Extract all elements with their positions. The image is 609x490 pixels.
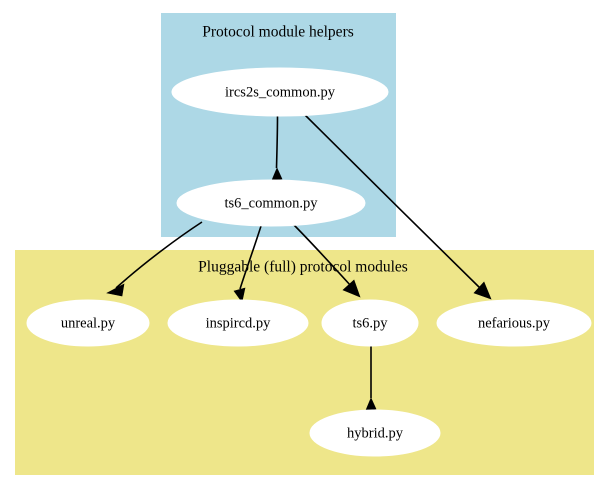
cluster-label-pluggable: Pluggable (full) protocol modules bbox=[198, 259, 408, 276]
graph-canvas: ircs2s_common.pyts6_common.pyunreal.pyin… bbox=[0, 0, 609, 490]
node-ts6_common[interactable]: ts6_common.py bbox=[177, 180, 365, 226]
node-label-nefarious: nefarious.py bbox=[478, 315, 551, 331]
node-label-unreal: unreal.py bbox=[61, 315, 116, 331]
node-label-ts6_common: ts6_common.py bbox=[224, 195, 318, 211]
node-ircs2s_common[interactable]: ircs2s_common.py bbox=[172, 68, 388, 116]
node-label-ts6: ts6.py bbox=[352, 315, 388, 331]
cluster-pluggable bbox=[15, 250, 594, 475]
node-label-hybrid: hybrid.py bbox=[347, 425, 404, 441]
protocol-module-diagram: ircs2s_common.pyts6_common.pyunreal.pyin… bbox=[0, 0, 609, 490]
node-label-ircs2s_common: ircs2s_common.py bbox=[225, 84, 336, 100]
node-nefarious[interactable]: nefarious.py bbox=[437, 300, 591, 346]
node-hybrid[interactable]: hybrid.py bbox=[310, 410, 440, 456]
cluster-label-helpers: Protocol module helpers bbox=[202, 24, 354, 41]
node-inspircd[interactable]: inspircd.py bbox=[168, 300, 308, 346]
node-label-inspircd: inspircd.py bbox=[206, 315, 272, 331]
node-ts6[interactable]: ts6.py bbox=[322, 300, 418, 346]
node-unreal[interactable]: unreal.py bbox=[27, 300, 149, 346]
